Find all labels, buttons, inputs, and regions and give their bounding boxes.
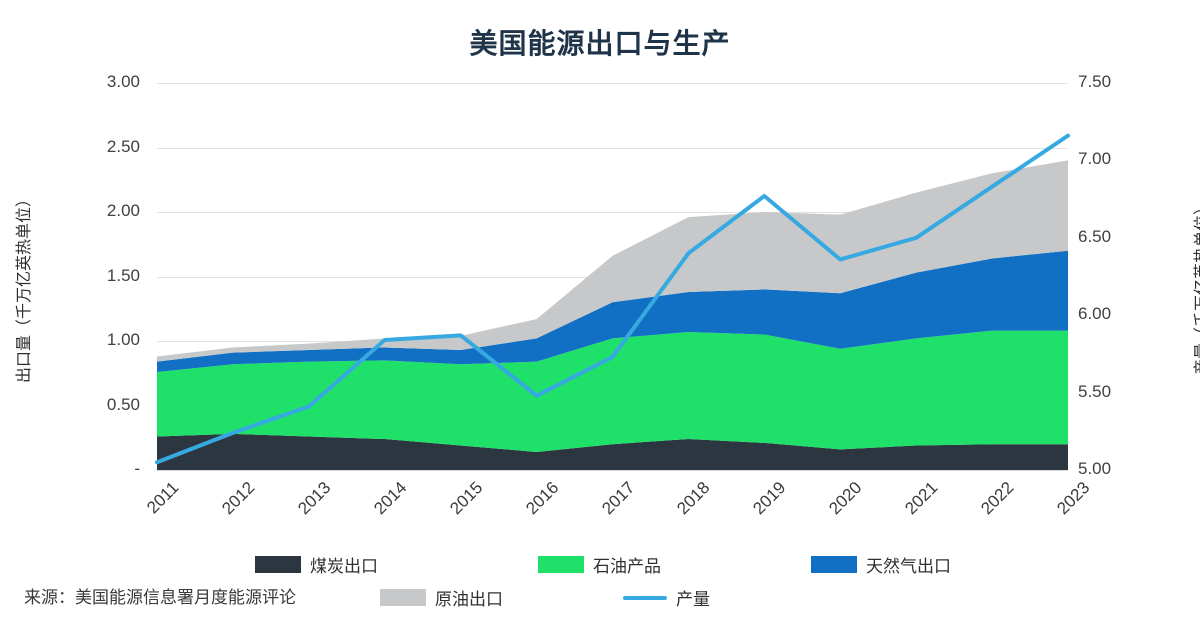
x-tick-2021: 2021 <box>891 478 942 529</box>
x-tick-2013: 2013 <box>284 478 335 529</box>
legend-coal-swatch-icon <box>255 556 301 573</box>
x-tick-2011: 2011 <box>132 478 183 529</box>
y-axis-left-title: 出口量（千万亿英热单位） <box>10 157 34 417</box>
x-tick-2012: 2012 <box>208 478 259 529</box>
y-tick-right: 7.50 <box>1078 72 1140 92</box>
legend-natgas-swatch-icon <box>811 556 857 573</box>
x-tick-2022: 2022 <box>967 478 1018 529</box>
y-axis-right-title: 产量（千万亿英热单位） <box>1188 157 1200 417</box>
x-axis-ticks: 2011201220132014201520162017201820192020… <box>157 478 1068 538</box>
legend-coal[interactable]: 煤炭出口 <box>255 552 378 577</box>
legend-output-swatch-icon <box>623 596 667 600</box>
x-tick-2017: 2017 <box>588 478 639 529</box>
legend-petro-swatch-icon <box>538 556 584 573</box>
legend-natgas[interactable]: 天然气出口 <box>811 552 951 577</box>
chart-root: 美国能源出口与生产 3.002.502.001.501.000.50- 7.50… <box>0 0 1200 627</box>
x-tick-2023: 2023 <box>1043 478 1094 529</box>
plot-area <box>157 83 1068 470</box>
y-tick-left: 2.00 <box>78 201 140 221</box>
x-tick-2020: 2020 <box>815 478 866 529</box>
y-tick-right: 5.50 <box>1078 382 1140 402</box>
legend-output[interactable]: 产量 <box>623 585 710 610</box>
y-tick-left: 0.50 <box>78 395 140 415</box>
legend-coal-label: 煤炭出口 <box>310 552 378 577</box>
legend-petro[interactable]: 石油产品 <box>538 552 661 577</box>
x-tick-2018: 2018 <box>664 478 715 529</box>
legend-row-secondary: 原油出口产量 <box>380 585 710 610</box>
legend-crude-label: 原油出口 <box>435 585 503 610</box>
y-tick-right: 6.00 <box>1078 304 1140 324</box>
legend-crude-swatch-icon <box>380 589 426 606</box>
source-note: 来源：美国能源信息署月度能源评论 <box>24 583 296 608</box>
x-tick-2019: 2019 <box>740 478 791 529</box>
x-tick-2014: 2014 <box>360 478 411 529</box>
y-tick-left: 1.00 <box>78 330 140 350</box>
legend-natgas-label: 天然气出口 <box>866 552 951 577</box>
y-tick-right: 5.00 <box>1078 459 1140 479</box>
legend-crude[interactable]: 原油出口 <box>380 585 503 610</box>
plot-svg <box>157 83 1068 470</box>
y-tick-right: 7.00 <box>1078 149 1140 169</box>
legend-row-primary: 煤炭出口石油产品天然气出口 <box>255 552 951 577</box>
x-tick-2015: 2015 <box>436 478 487 529</box>
x-tick-2016: 2016 <box>512 478 563 529</box>
y-tick-left: 3.00 <box>78 72 140 92</box>
y-tick-left: - <box>78 459 140 479</box>
y-tick-left: 2.50 <box>78 137 140 157</box>
gridline <box>157 470 1068 471</box>
y-tick-left: 1.50 <box>78 266 140 286</box>
legend-petro-label: 石油产品 <box>593 552 661 577</box>
y-tick-right: 6.50 <box>1078 227 1140 247</box>
chart-title: 美国能源出口与生产 <box>0 22 1200 62</box>
legend-output-label: 产量 <box>676 585 710 610</box>
